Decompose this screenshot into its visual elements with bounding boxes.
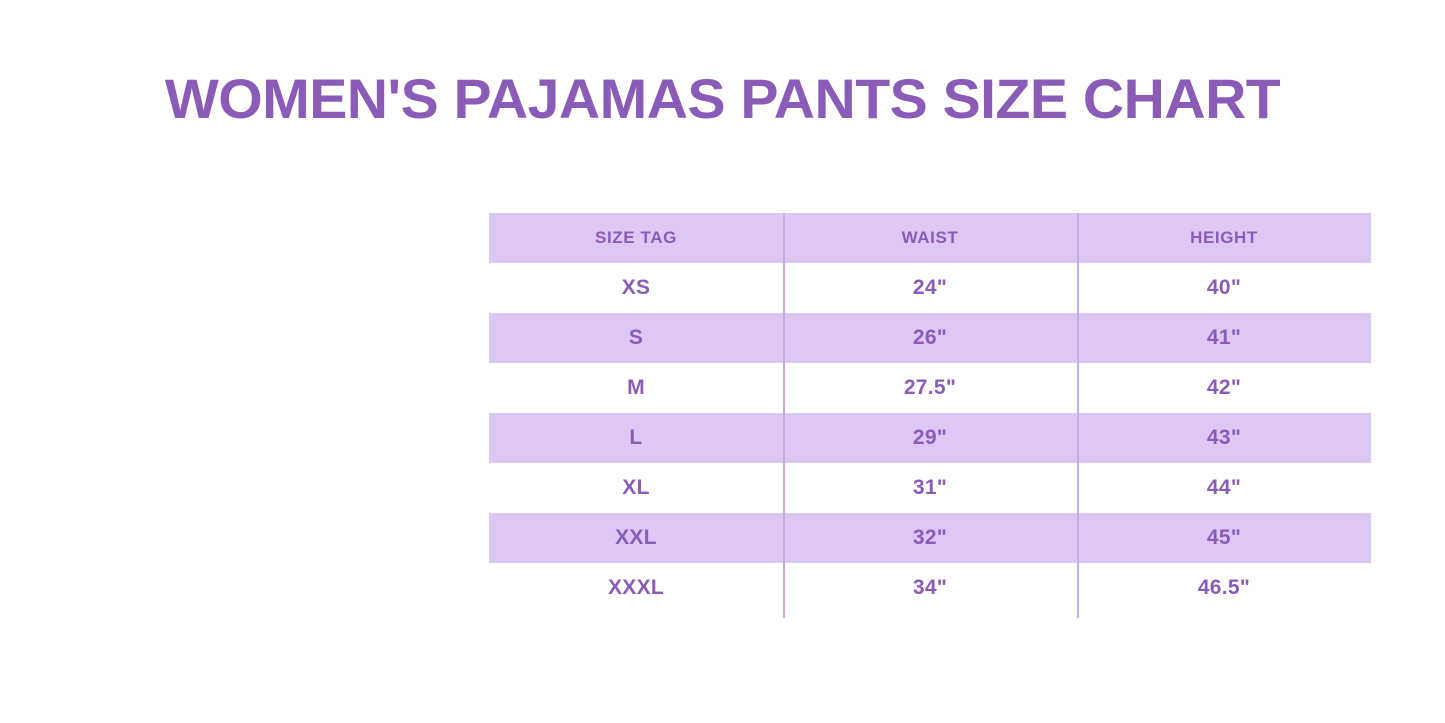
- page-title: WOMEN'S PAJAMAS PANTS SIZE CHART: [0, 64, 1445, 134]
- table-header-row: SIZE TAG WAIST HEIGHT: [489, 213, 1371, 263]
- table-row: XXXL 34" 46.5": [489, 563, 1371, 613]
- size-chart-page: WOMEN'S PAJAMAS PANTS SIZE CHART SIZE TA…: [0, 0, 1445, 723]
- column-divider-2: [1077, 213, 1079, 618]
- column-divider-1: [783, 213, 785, 618]
- table-row: XXL 32" 45": [489, 513, 1371, 563]
- table-row: L 29" 43": [489, 413, 1371, 463]
- cell-waist: 29": [783, 413, 1077, 463]
- table-row: XS 24" 40": [489, 263, 1371, 313]
- column-header-height: HEIGHT: [1077, 213, 1371, 263]
- cell-size-tag: L: [489, 413, 783, 463]
- table-row: S 26" 41": [489, 313, 1371, 363]
- cell-waist: 24": [783, 263, 1077, 313]
- cell-height: 40": [1077, 263, 1371, 313]
- table-header: SIZE TAG WAIST HEIGHT: [489, 213, 1371, 263]
- cell-waist: 34": [783, 563, 1077, 613]
- cell-waist: 27.5": [783, 363, 1077, 413]
- column-header-size-tag: SIZE TAG: [489, 213, 783, 263]
- cell-size-tag: XXXL: [489, 563, 783, 613]
- cell-height: 41": [1077, 313, 1371, 363]
- cell-height: 45": [1077, 513, 1371, 563]
- table-row: M 27.5" 42": [489, 363, 1371, 413]
- cell-size-tag: XL: [489, 463, 783, 513]
- cell-height: 46.5": [1077, 563, 1371, 613]
- table-body: XS 24" 40" S 26" 41" M 27.5" 42" L 29" 4…: [489, 263, 1371, 613]
- cell-size-tag: XS: [489, 263, 783, 313]
- cell-height: 43": [1077, 413, 1371, 463]
- cell-size-tag: XXL: [489, 513, 783, 563]
- column-header-waist: WAIST: [783, 213, 1077, 263]
- cell-waist: 32": [783, 513, 1077, 563]
- cell-height: 44": [1077, 463, 1371, 513]
- cell-height: 42": [1077, 363, 1371, 413]
- table-row: XL 31" 44": [489, 463, 1371, 513]
- cell-size-tag: M: [489, 363, 783, 413]
- cell-waist: 31": [783, 463, 1077, 513]
- size-chart-table: SIZE TAG WAIST HEIGHT XS 24" 40" S 26" 4…: [489, 213, 1371, 613]
- cell-size-tag: S: [489, 313, 783, 363]
- cell-waist: 26": [783, 313, 1077, 363]
